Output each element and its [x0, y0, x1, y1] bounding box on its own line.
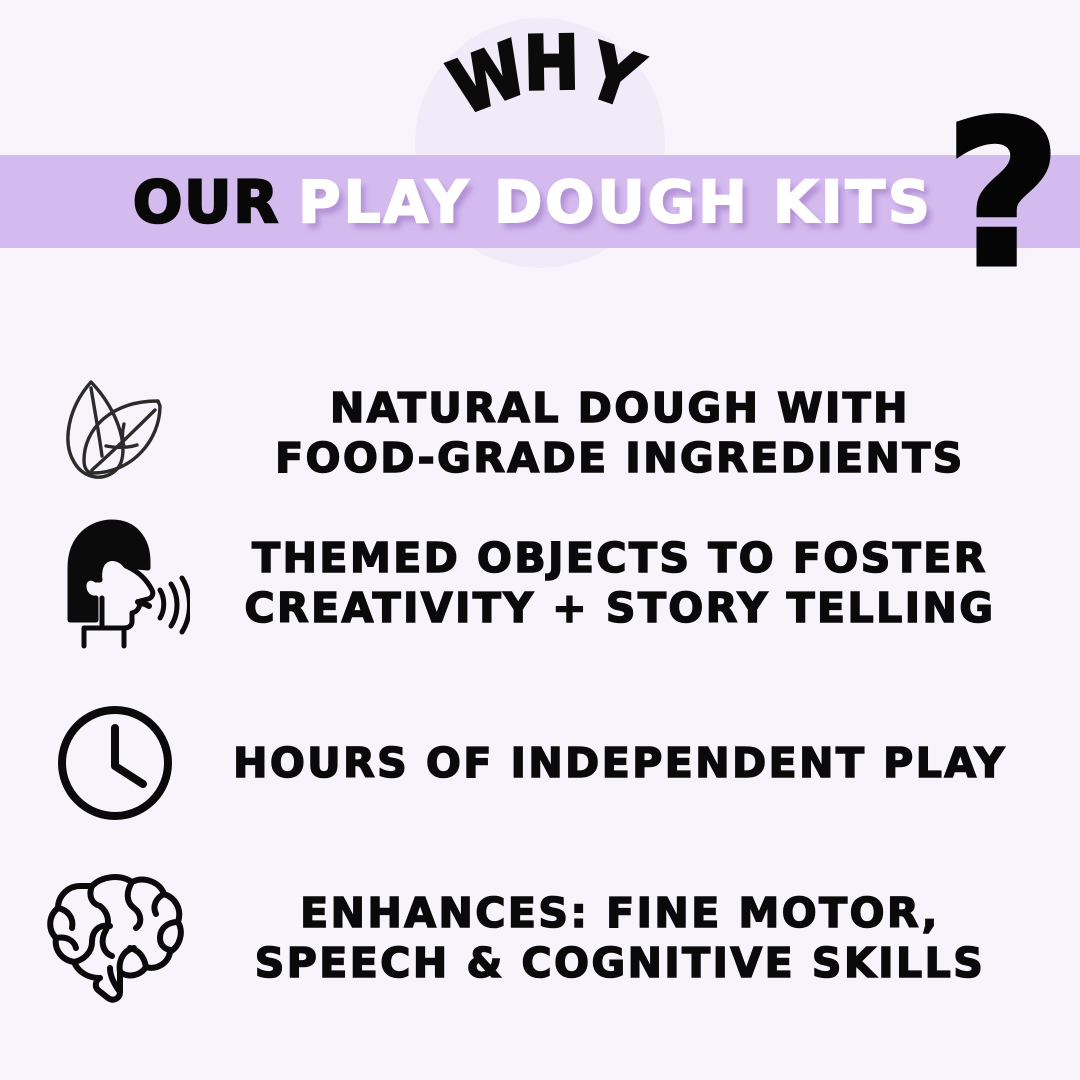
- feature-line: THEMED OBJECTS TO FOSTER: [220, 533, 1020, 583]
- feature-line: HOURS OF INDEPENDENT PLAY: [220, 738, 1020, 788]
- speaking-head-icon: [0, 516, 220, 651]
- feature-text: NATURAL DOUGH WITH FOOD-GRADE INGREDIENT…: [220, 383, 1080, 483]
- arc-letter-1: W: [441, 31, 535, 126]
- header-section: W H Y OUR PLAY DOUGH KITS ?: [0, 0, 1080, 300]
- feature-row: NATURAL DOUGH WITH FOOD-GRADE INGREDIENT…: [0, 348, 1080, 518]
- clock-icon: [0, 698, 220, 828]
- feature-row: THEMED OBJECTS TO FOSTER CREATIVITY + ST…: [0, 498, 1080, 668]
- feature-line: CREATIVITY + STORY TELLING: [220, 583, 1020, 633]
- feature-text: ENHANCES: FINE MOTOR, SPEECH & COGNITIVE…: [220, 888, 1080, 988]
- leaves-icon: [0, 368, 220, 498]
- arc-letter-3: Y: [579, 34, 648, 119]
- feature-text: HOURS OF INDEPENDENT PLAY: [220, 738, 1080, 788]
- headline-text-group: OUR PLAY DOUGH KITS: [0, 155, 1080, 248]
- headline-our: OUR: [133, 173, 280, 231]
- headline-play-dough-kits: PLAY DOUGH KITS: [298, 173, 933, 231]
- arc-letter-2: H: [523, 27, 580, 102]
- feature-line: NATURAL DOUGH WITH: [220, 383, 1020, 433]
- brain-icon: [0, 868, 220, 1008]
- feature-line: SPEECH & COGNITIVE SKILLS: [220, 938, 1020, 988]
- feature-line: ENHANCES: FINE MOTOR,: [220, 888, 1020, 938]
- feature-text: THEMED OBJECTS TO FOSTER CREATIVITY + ST…: [220, 533, 1080, 633]
- question-mark-glyph: ?: [945, 96, 1061, 296]
- feature-row: HOURS OF INDEPENDENT PLAY: [0, 678, 1080, 848]
- why-arc-heading: W H Y: [0, 0, 1080, 160]
- feature-row: ENHANCES: FINE MOTOR, SPEECH & COGNITIVE…: [0, 848, 1080, 1028]
- feature-line: FOOD-GRADE INGREDIENTS: [220, 433, 1020, 483]
- features-list: NATURAL DOUGH WITH FOOD-GRADE INGREDIENT…: [0, 300, 1080, 1080]
